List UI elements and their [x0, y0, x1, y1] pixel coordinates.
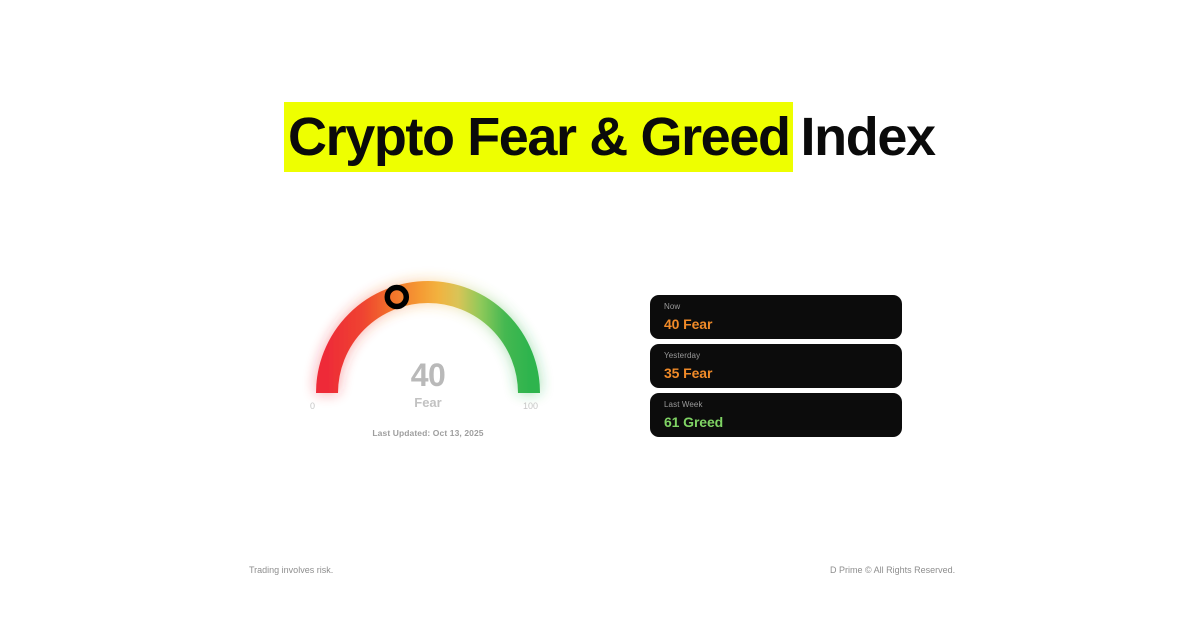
sentiment-card-label: Last Week: [664, 399, 902, 411]
sentiment-card-last-week[interactable]: Last Week 61 Greed: [650, 393, 902, 437]
sentiment-card-label: Yesterday: [664, 350, 902, 362]
sentiment-card-label: Now: [664, 301, 902, 313]
gauge-scale-min: 0: [310, 401, 315, 411]
gauge-scale-max: 100: [523, 401, 538, 411]
gauge-arc-svg: [296, 262, 560, 412]
footer-copyright: D Prime © All Rights Reserved.: [830, 565, 955, 575]
sentiment-card-value: 61 Greed: [664, 412, 902, 432]
gauge-chart: 40 Fear 0 100 Last Updated: Oct 13, 2025: [296, 262, 560, 448]
gauge-last-updated: Last Updated: Oct 13, 2025: [296, 428, 560, 438]
page-title-highlighted: Crypto Fear & Greed: [284, 102, 793, 172]
sentiment-card-value: 40 Fear: [664, 314, 902, 334]
page-title: Crypto Fear & GreedIndex: [284, 102, 935, 172]
gauge-arc: [327, 292, 529, 393]
page-title-plain: Index: [793, 102, 935, 172]
sentiment-card-value: 35 Fear: [664, 363, 902, 383]
fear-greed-index-page: Crypto Fear & GreedIndex: [0, 0, 1200, 628]
sentiment-card-yesterday[interactable]: Yesterday 35 Fear: [650, 344, 902, 388]
sentiment-cards: Now 40 Fear Yesterday 35 Fear Last Week …: [650, 295, 902, 437]
sentiment-card-now[interactable]: Now 40 Fear: [650, 295, 902, 339]
footer-disclaimer: Trading involves risk.: [249, 565, 333, 575]
